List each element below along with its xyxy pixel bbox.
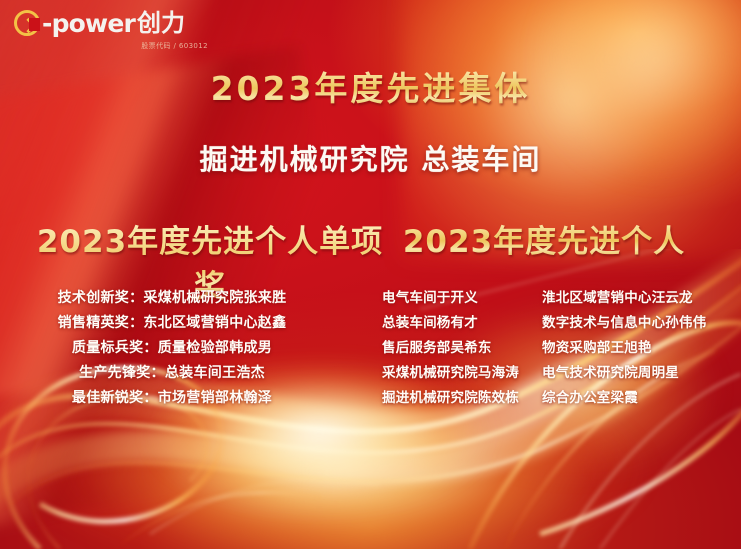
- list-item: 质量标兵奖：质量检验部韩成男: [22, 336, 322, 361]
- award-poster: -power 创力 股票代码 / 603012 2023年度先进集体 掘进机械研…: [0, 0, 741, 549]
- stock-code-label: 股票代码 / 603012: [14, 41, 214, 51]
- list-item: 销售精英奖：东北区域营销中心赵鑫: [22, 311, 322, 336]
- list-item: 技术创新奖：采煤机械研究院张来胜: [22, 286, 322, 311]
- logo-wordmark: -power: [42, 11, 135, 36]
- page-title: 2023年度先进集体: [0, 62, 741, 110]
- section-heading-advanced-individual: 2023年度先进个人: [398, 216, 690, 261]
- list-item: 采煤机械研究院马海涛 电气技术研究院周明星: [382, 361, 732, 386]
- list-item: 总装车间杨有才 数字技术与信息中心孙伟伟: [382, 311, 732, 336]
- list-item: 掘进机械研究院陈效栋 综合办公室梁霞: [382, 386, 732, 411]
- list-item-col1: 总装车间杨有才: [382, 311, 542, 336]
- list-item-col2: 电气技术研究院周明星: [542, 361, 732, 386]
- list-item: 售后服务部吴希东 物资采购部王旭艳: [382, 336, 732, 361]
- list-item: 最佳新锐奖：市场营销部林翰泽: [22, 386, 322, 411]
- c-power-circle-arrow-icon: [14, 10, 40, 36]
- logo-wordmark-cn: 创力: [137, 11, 185, 35]
- list-item-col1: 采煤机械研究院马海涛: [382, 361, 542, 386]
- page-subtitle: 掘进机械研究院 总装车间: [0, 138, 741, 178]
- list-item-col2: 数字技术与信息中心孙伟伟: [542, 311, 732, 336]
- list-item: 电气车间于开义 淮北区域营销中心汪云龙: [382, 286, 732, 311]
- list-item-col2: 综合办公室梁霞: [542, 386, 732, 411]
- list-item-col1: 电气车间于开义: [382, 286, 542, 311]
- brand-logo[interactable]: -power 创力 股票代码 / 603012: [14, 10, 214, 51]
- list-item: 生产先锋奖：总装车间王浩杰: [22, 361, 322, 386]
- list-item-col2: 物资采购部王旭艳: [542, 336, 732, 361]
- list-item-col2: 淮北区域营销中心汪云龙: [542, 286, 732, 311]
- list-item-col1: 掘进机械研究院陈效栋: [382, 386, 542, 411]
- list-item-col1: 售后服务部吴希东: [382, 336, 542, 361]
- award-list-right: 电气车间于开义 淮北区域营销中心汪云龙 总装车间杨有才 数字技术与信息中心孙伟伟…: [382, 286, 732, 411]
- award-list-left: 技术创新奖：采煤机械研究院张来胜 销售精英奖：东北区域营销中心赵鑫 质量标兵奖：…: [22, 286, 322, 411]
